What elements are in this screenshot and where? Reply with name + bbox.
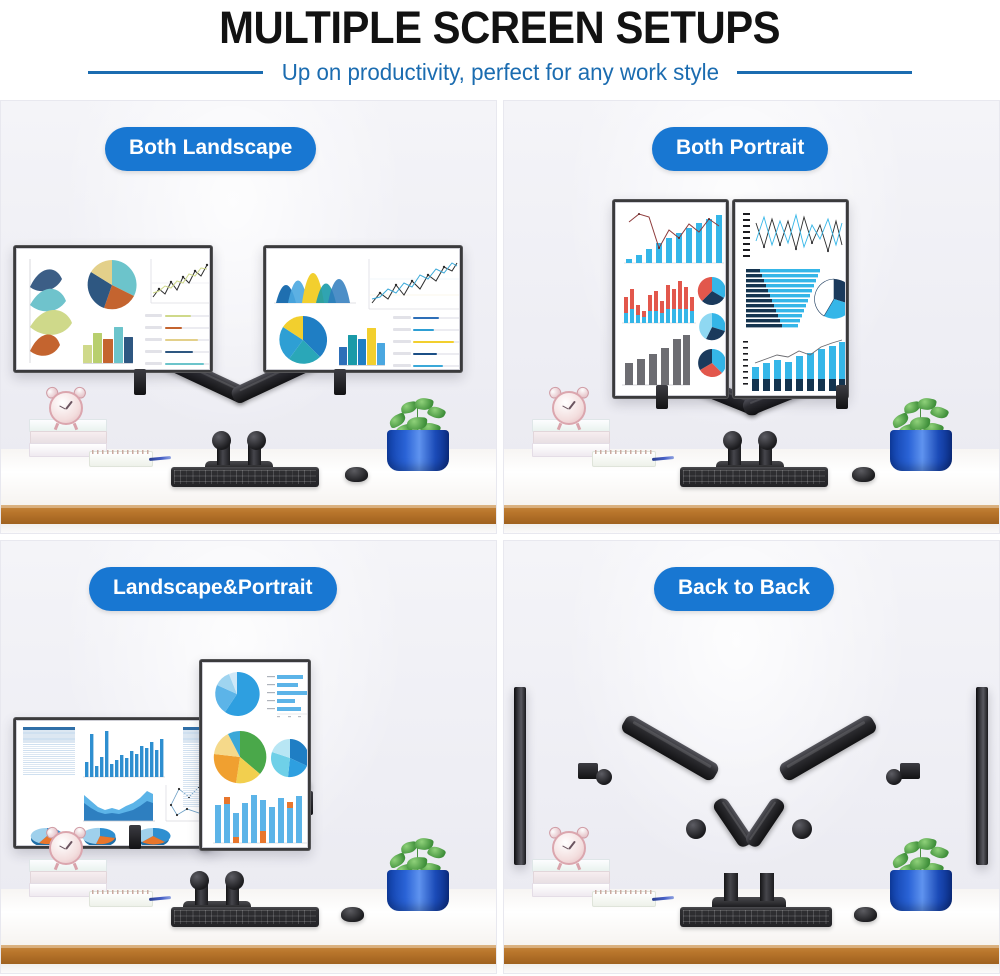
chart-density (272, 257, 358, 307)
progress-row (145, 361, 210, 367)
chart-zigzag-line (742, 209, 846, 261)
page-title: MULTIPLE SCREEN SETUPS (219, 2, 780, 54)
keyboard[interactable] (680, 467, 828, 487)
arm-joint-right (247, 431, 266, 450)
keyboard[interactable] (171, 907, 319, 927)
mouse[interactable] (852, 467, 875, 482)
mouse[interactable] (854, 907, 877, 922)
page-header: MULTIPLE SCREEN SETUPS Up on productivit… (0, 0, 1000, 100)
potted-plant (387, 397, 449, 471)
mouse[interactable] (341, 907, 364, 922)
chart-pie-column (696, 273, 726, 393)
arm-joint-left (723, 431, 742, 450)
monitor-right-screen (266, 248, 460, 370)
chart-bars (83, 321, 133, 363)
badge-landscape-portrait[interactable]: Landscape&Portrait (89, 567, 337, 611)
progress-row (393, 363, 460, 369)
progress-row (393, 339, 460, 345)
mouse[interactable] (345, 467, 368, 482)
monitor-left-screen (16, 248, 210, 370)
subtitle-row: Up on productivity, perfect for any work… (0, 59, 1000, 86)
notebook (592, 891, 656, 907)
arm-elbow-left (686, 819, 706, 839)
badge-both-portrait[interactable]: Both Portrait (652, 127, 828, 171)
chart-progress-bars (393, 315, 460, 369)
monitor-right-screen (202, 662, 308, 848)
chart-line (367, 257, 460, 311)
chart-bars (81, 729, 167, 779)
monitor-right-landscape[interactable] (263, 245, 463, 373)
potted-plant (890, 837, 952, 911)
desk-edge (1, 945, 496, 965)
badge-back-to-back[interactable]: Back to Back (654, 567, 834, 611)
arm-head-joint-left (596, 769, 612, 785)
chart-bars (339, 325, 385, 365)
progress-row (145, 349, 210, 355)
panel-both-portrait[interactable]: Both Portrait (503, 100, 1000, 534)
desk-edge (504, 505, 999, 525)
chart-pie-colorful (209, 727, 271, 787)
monitor-right-portrait[interactable] (199, 659, 311, 851)
vesa-plate-left (656, 385, 668, 409)
alarm-clock (49, 391, 83, 425)
vesa-plate-right (900, 763, 920, 779)
chart-pie-blue (269, 737, 308, 781)
panel-back-to-back[interactable]: Back to Back (503, 540, 1000, 974)
monitor-right-portrait[interactable] (732, 199, 849, 399)
vesa-plate-left (134, 369, 146, 395)
divider-rule-right (737, 71, 912, 74)
monitor-left-landscape[interactable] (13, 245, 213, 373)
chart-pie (272, 311, 334, 369)
alarm-clock (49, 831, 83, 865)
mount-post-right (760, 873, 774, 901)
keyboard[interactable] (171, 467, 319, 487)
alarm-clock (552, 391, 586, 425)
notebook (89, 891, 153, 907)
panel-landscape-portrait[interactable]: Landscape&Portrait (0, 540, 497, 974)
notebook (592, 451, 656, 467)
chart-pie (816, 277, 846, 321)
vesa-plate-left (578, 763, 598, 779)
monitor-left-edge-on[interactable] (514, 687, 526, 865)
panel-both-landscape[interactable]: Both Landscape (0, 100, 497, 534)
desk-shadow (1, 524, 496, 533)
arm-joint-left (190, 871, 209, 890)
monitor-left-landscape[interactable] (13, 717, 219, 849)
desk-shadow (504, 524, 999, 533)
monitor-left-screen (615, 202, 726, 396)
progress-row (145, 325, 210, 331)
monitor-right-edge-on[interactable] (976, 687, 988, 865)
progress-row (145, 313, 210, 319)
desk-edge (504, 945, 999, 965)
bars-baseline (83, 363, 133, 364)
data-table-left (23, 727, 75, 775)
vesa-plate-right (836, 385, 848, 409)
chart-bars-with-line (620, 208, 726, 266)
desk-shadow (1, 964, 496, 973)
alarm-clock (552, 831, 586, 865)
notebook (89, 451, 153, 467)
monitor-left-portrait[interactable] (612, 199, 729, 399)
progress-row (393, 315, 460, 321)
desk-shadow (504, 964, 999, 973)
chart-pie-top (209, 669, 269, 721)
arm-elbow-right (792, 819, 812, 839)
chart-progress-bars (145, 313, 210, 367)
badge-both-landscape[interactable]: Both Landscape (105, 127, 316, 171)
mount-post-left (724, 873, 738, 901)
chart-stacked-with-line (742, 337, 846, 393)
desk-edge (1, 505, 496, 525)
progress-row (393, 327, 460, 333)
chart-bars-bottom (209, 791, 308, 848)
chart-funnel-hbars (742, 267, 824, 329)
setup-grid: Both Landscape (0, 100, 1000, 976)
divider-rule-left (88, 71, 263, 74)
chart-ridgeline (22, 257, 76, 367)
arm-joint-left (212, 431, 231, 450)
chart-gray-bars (620, 331, 692, 391)
vesa-plate-left (129, 825, 141, 849)
monitor-right-screen (735, 202, 846, 396)
chart-line (149, 257, 210, 305)
chart-hbars (265, 671, 308, 721)
potted-plant (387, 837, 449, 911)
arm-joint-right (758, 431, 777, 450)
arm-joint-right (225, 871, 244, 890)
chart-pie (79, 255, 145, 315)
potted-plant (890, 397, 952, 471)
keyboard[interactable] (680, 907, 832, 927)
bars-baseline (339, 365, 385, 366)
page-subtitle: Up on productivity, perfect for any work… (281, 59, 718, 86)
chart-area (81, 783, 157, 825)
chart-stacked-bars (620, 273, 698, 325)
progress-row (145, 337, 210, 343)
monitor-left-screen (16, 720, 216, 846)
vesa-plate-right (334, 369, 346, 395)
arm-head-joint-right (886, 769, 902, 785)
progress-row (393, 351, 460, 357)
